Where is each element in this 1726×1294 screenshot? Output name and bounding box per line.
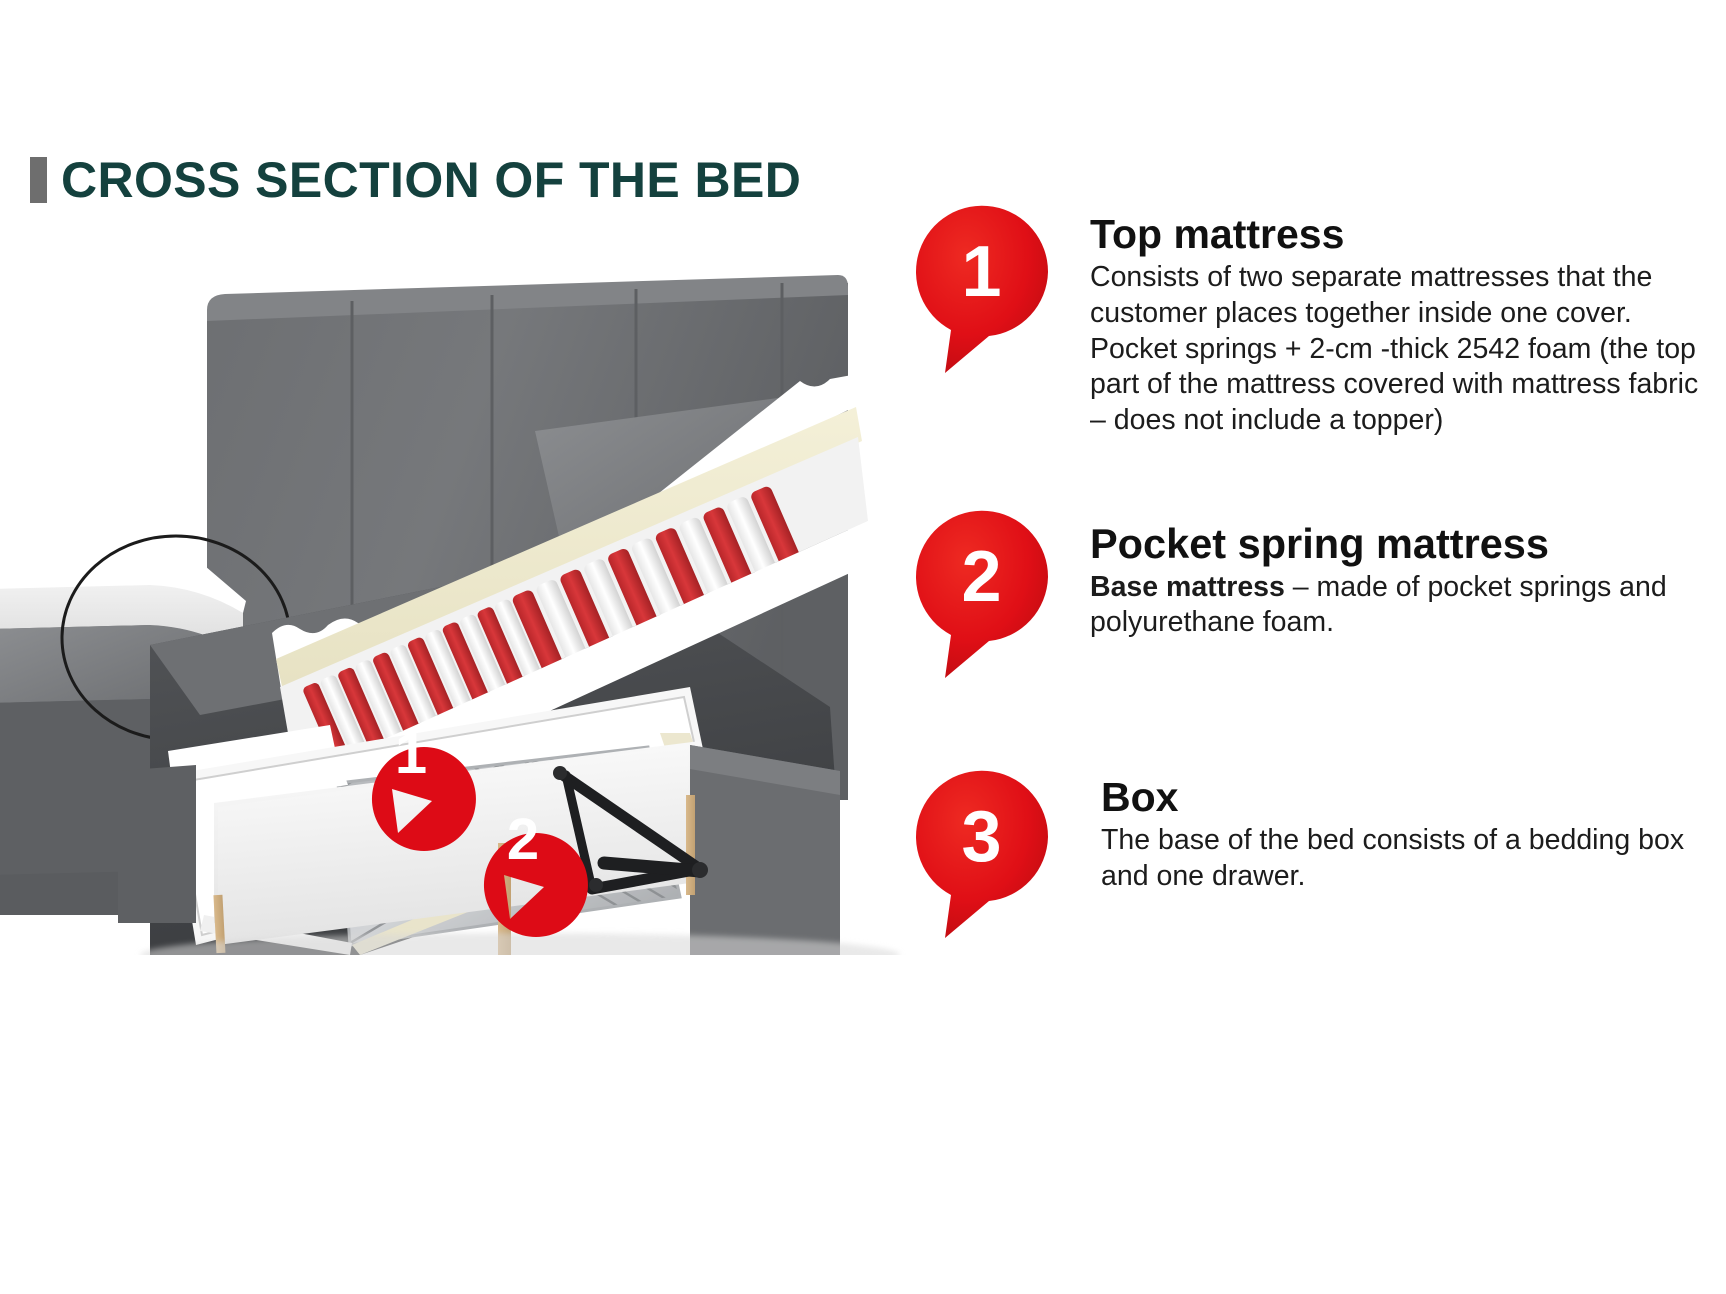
legend-text-3: Box The base of the bed consists of a be… [1101, 760, 1705, 895]
pin-marker-1-icon: 1 [915, 205, 1060, 380]
legend-body-3: The base of the bed consists of a beddin… [1101, 823, 1705, 895]
legend-title-1: Top mattress [1090, 213, 1705, 256]
legend-item-box: 3 Box The base of the bed consists of a … [905, 760, 1705, 895]
pin-marker-3-icon: 3 [915, 770, 1060, 945]
legend-text-1: Top mattress Consists of two separate ma… [1090, 195, 1705, 439]
legend-item-pocket-spring-mattress: 2 Pocket spring mattress Base mattress –… [905, 500, 1705, 641]
legend-text-2: Pocket spring mattress Base mattress – m… [1090, 500, 1705, 641]
legend-title-3: Box [1101, 776, 1705, 819]
wood-edge-right [686, 795, 695, 895]
svg-text:1: 1 [395, 721, 427, 786]
page-title: CROSS SECTION OF THE BED [30, 155, 801, 205]
page-canvas: CROSS SECTION OF THE BED [0, 0, 1726, 1294]
legend-body-2: Base mattress – made of pocket springs a… [1090, 570, 1705, 642]
page-title-text: CROSS SECTION OF THE BED [61, 155, 801, 205]
title-accent-bar [30, 157, 47, 203]
legend-title-2: Pocket spring mattress [1090, 522, 1705, 566]
bed-cross-section-illustration: 1 2 3 [0, 255, 920, 955]
legend-body-2-bold: Base mattress [1090, 571, 1285, 603]
pin-marker-2-icon: 2 [915, 510, 1060, 685]
legend-body-1: Consists of two separate mattresses that… [1090, 260, 1705, 439]
legend-item-top-mattress: 1 Top mattress Consists of two separate … [905, 195, 1705, 439]
svg-text:2: 2 [507, 807, 539, 872]
